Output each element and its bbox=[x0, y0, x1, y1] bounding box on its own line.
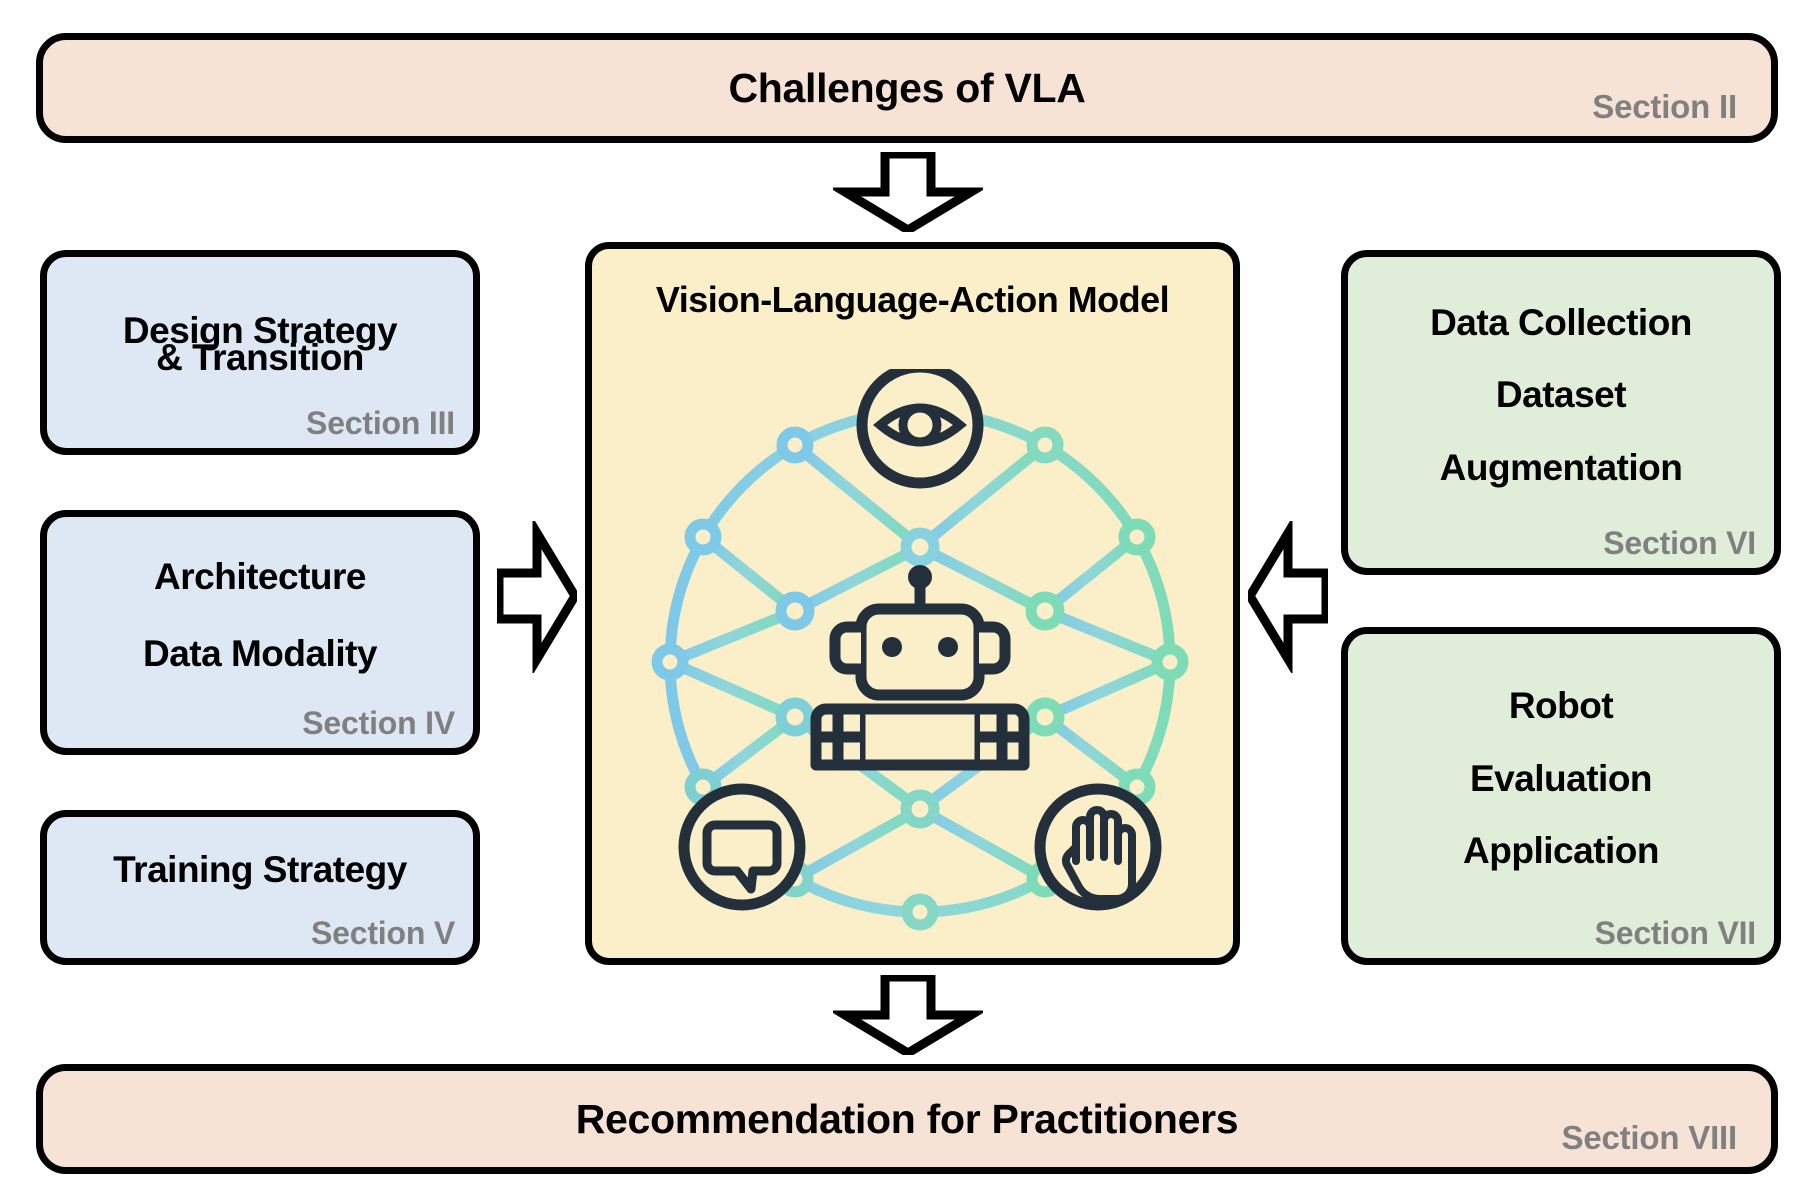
sidebox-robot-line-2: Evaluation bbox=[1470, 758, 1652, 801]
sidebox-data-line-3: Augmentation bbox=[1440, 447, 1683, 490]
recommendation-banner-title: Recommendation for Practitioners bbox=[576, 1096, 1238, 1143]
sidebox-architecture-line-2: Data Modality bbox=[143, 633, 377, 676]
sidebox-robot-section: Section VII bbox=[1595, 915, 1756, 952]
vla-network-graphic bbox=[624, 369, 1216, 955]
sidebox-data-collection[interactable]: Data Collection Dataset Augmentation Sec… bbox=[1341, 250, 1781, 575]
sidebox-design-line-2: & Transition bbox=[156, 337, 364, 380]
sidebox-architecture-line-1: Architecture bbox=[154, 556, 366, 599]
challenges-banner-title: Challenges of VLA bbox=[728, 65, 1085, 112]
challenges-banner: Challenges of VLA Section II bbox=[36, 33, 1778, 143]
diagram-canvas: Challenges of VLA Section II Design Stra… bbox=[0, 0, 1814, 1192]
arrow-down-to-center-icon bbox=[833, 152, 983, 232]
arrow-right-to-center-icon bbox=[497, 521, 577, 673]
hand-icon bbox=[1040, 789, 1156, 905]
sidebox-training-strategy[interactable]: Training Strategy Section V bbox=[40, 810, 480, 965]
eye-icon bbox=[862, 369, 978, 483]
robot-icon bbox=[816, 565, 1024, 765]
sidebox-robot-line-1: Robot bbox=[1509, 685, 1613, 728]
sidebox-training-section: Section V bbox=[311, 915, 455, 952]
sidebox-data-section: Section VI bbox=[1603, 525, 1756, 562]
sidebox-training-line-1: Training Strategy bbox=[113, 849, 407, 892]
recommendation-banner-section: Section VIII bbox=[1562, 1119, 1737, 1157]
arrow-down-to-recommendation-icon bbox=[833, 975, 983, 1055]
sidebox-design-strategy[interactable]: Design Strategy & Transition Section III bbox=[40, 250, 480, 455]
arrow-left-to-center-icon bbox=[1248, 521, 1328, 673]
sidebox-architecture[interactable]: Architecture Data Modality Section IV bbox=[40, 510, 480, 755]
challenges-banner-section: Section II bbox=[1592, 88, 1737, 126]
sidebox-robot-line-3: Application bbox=[1463, 830, 1659, 873]
sidebox-architecture-section: Section IV bbox=[302, 705, 455, 742]
sidebox-robot-evaluation[interactable]: Robot Evaluation Application Section VII bbox=[1341, 627, 1781, 965]
speech-bubble-icon bbox=[684, 789, 800, 905]
vla-model-title: Vision-Language-Action Model bbox=[656, 279, 1169, 321]
vla-model-box: Vision-Language-Action Model bbox=[585, 242, 1240, 965]
sidebox-design-section: Section III bbox=[306, 405, 455, 442]
recommendation-banner: Recommendation for Practitioners Section… bbox=[36, 1064, 1778, 1174]
sidebox-data-line-1: Data Collection bbox=[1430, 302, 1692, 345]
sidebox-data-line-2: Dataset bbox=[1496, 374, 1626, 417]
